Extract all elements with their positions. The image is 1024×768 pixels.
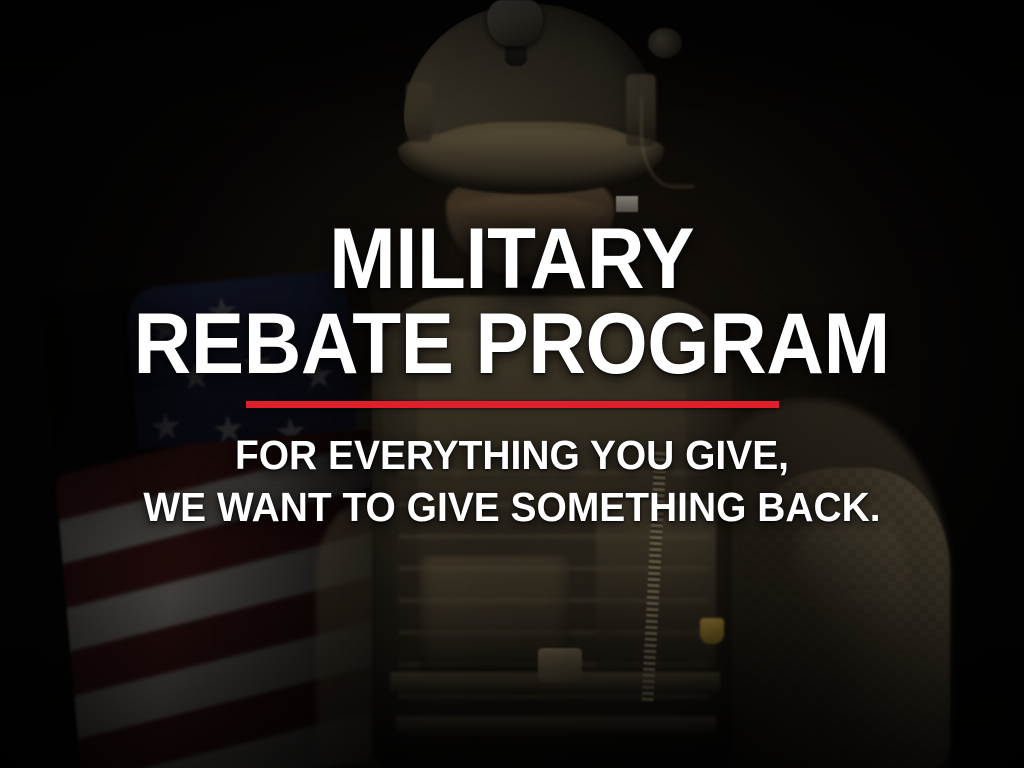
headline-line-2: REBATE PROGRAM: [134, 303, 890, 386]
military-rebate-poster: MILITARY REBATE PROGRAM FOR EVERYTHING Y…: [0, 0, 1024, 768]
subtitle: FOR EVERYTHING YOU GIVE, WE WANT TO GIVE…: [124, 434, 900, 529]
headline-line-1: MILITARY: [134, 218, 890, 301]
subtitle-line-2: WE WANT TO GIVE SOMETHING BACK.: [143, 486, 880, 529]
text-overlay: MILITARY REBATE PROGRAM FOR EVERYTHING Y…: [0, 0, 1024, 768]
subtitle-line-1: FOR EVERYTHING YOU GIVE,: [143, 434, 880, 477]
page-title: MILITARY REBATE PROGRAM: [105, 0, 918, 385]
red-divider-rule: [246, 401, 779, 408]
